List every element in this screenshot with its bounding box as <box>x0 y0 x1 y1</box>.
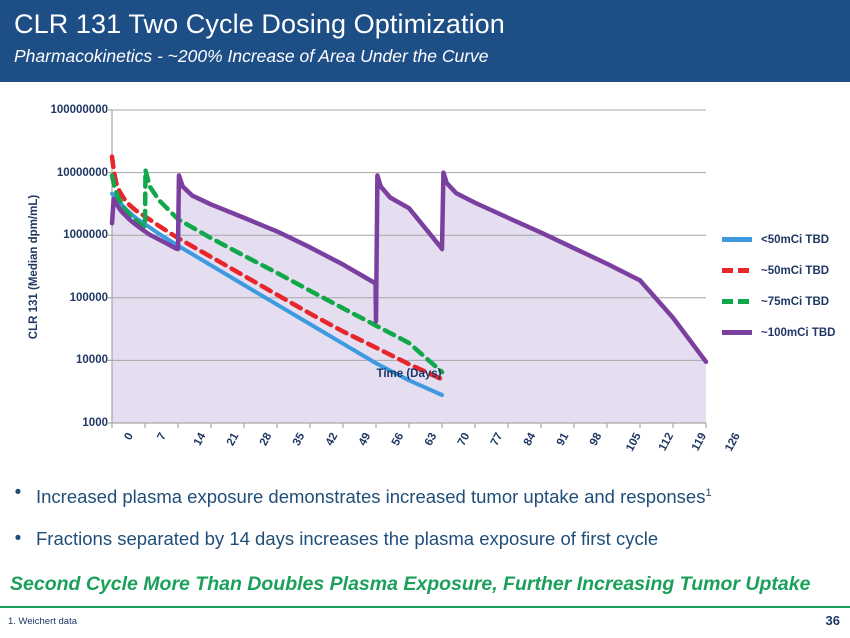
x-axis-title: Time (Days) <box>112 368 706 380</box>
bullet-item: •Fractions separated by 14 days increase… <box>0 526 850 552</box>
bullet-item: •Increased plasma exposure demonstrates … <box>0 480 850 510</box>
chart-legend: <50mCi TBD~50mCi TBD~75mCi TBD~100mCi TB… <box>722 224 848 348</box>
bullet-text: Fractions separated by 14 days increases… <box>36 526 658 552</box>
legend-swatch-icon <box>722 268 752 273</box>
footnote: 1. Weichert data <box>8 616 77 627</box>
legend-item[interactable]: ~50mCi TBD <box>722 255 848 286</box>
legend-swatch-icon <box>722 330 752 335</box>
bullet-dot-icon: • <box>0 526 36 552</box>
divider-rule <box>0 606 850 608</box>
legend-item[interactable]: <50mCi TBD <box>722 224 848 255</box>
page-number: 36 <box>826 613 840 628</box>
page-subtitle: Pharmacokinetics - ~200% Increase of Are… <box>14 43 850 69</box>
page-title: CLR 131 Two Cycle Dosing Optimization <box>14 7 850 41</box>
legend-item[interactable]: ~75mCi TBD <box>722 286 848 317</box>
chart: CLR 131 (Median dpm/mL) 1000000001000000… <box>0 86 850 476</box>
bullet-dot-icon: • <box>0 480 36 506</box>
legend-label: ~75mCi TBD <box>761 296 829 308</box>
conclusion-statement: Second Cycle More Than Doubles Plasma Ex… <box>10 573 842 596</box>
slide-header: CLR 131 Two Cycle Dosing Optimization Ph… <box>0 0 850 82</box>
legend-item[interactable]: ~100mCi TBD <box>722 317 848 348</box>
bullet-superscript: 1 <box>705 487 711 499</box>
slide-footer: 1. Weichert data 36 <box>0 612 850 638</box>
legend-label: ~50mCi TBD <box>761 265 829 277</box>
legend-swatch-icon <box>722 299 752 304</box>
legend-swatch-icon <box>722 237 752 242</box>
legend-label: <50mCi TBD <box>761 234 829 246</box>
legend-label: ~100mCi TBD <box>761 327 835 339</box>
bullet-list: •Increased plasma exposure demonstrates … <box>0 480 850 568</box>
bullet-text: Increased plasma exposure demonstrates i… <box>36 480 712 510</box>
